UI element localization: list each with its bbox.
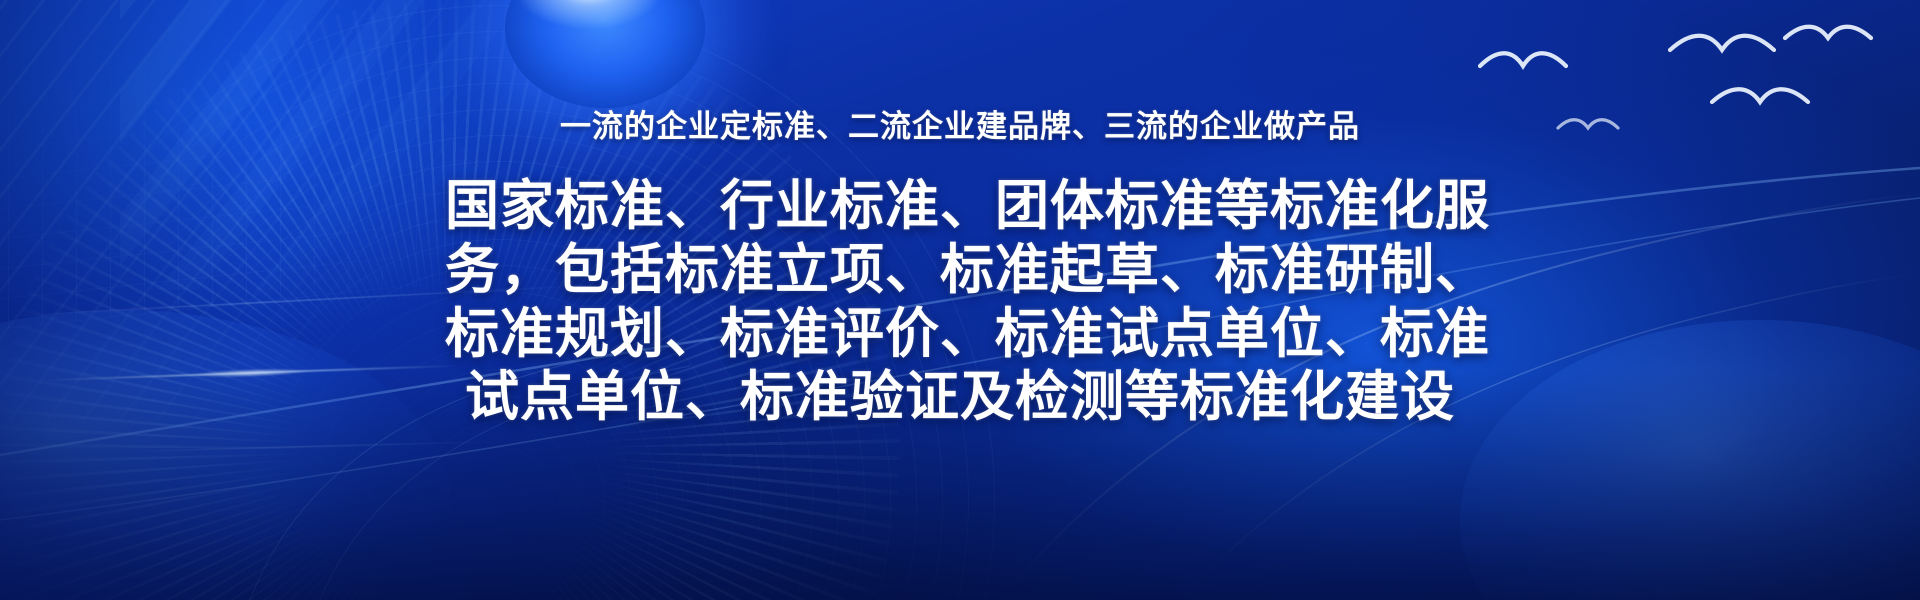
banner-headline: 国家标准、行业标准、团体标准等标准化服 务，包括标准立项、标准起草、标准研制、 … [445, 175, 1475, 430]
headline-line-4: 试点单位、标准验证及检测等标准化建设 [445, 366, 1475, 430]
headline-line-3: 标准规划、标准评价、标准试点单位、标准 [445, 303, 1475, 367]
banner-content: 一流的企业定标准、二流企业建品牌、三流的企业做产品 国家标准、行业标准、团体标准… [0, 0, 1920, 600]
headline-line-2: 务，包括标准立项、标准起草、标准研制、 [445, 239, 1475, 303]
tech-banner: 一流的企业定标准、二流企业建品牌、三流的企业做产品 国家标准、行业标准、团体标准… [0, 0, 1920, 600]
headline-line-1: 国家标准、行业标准、团体标准等标准化服 [445, 175, 1475, 239]
banner-tagline: 一流的企业定标准、二流企业建品牌、三流的企业做产品 [560, 108, 1360, 145]
